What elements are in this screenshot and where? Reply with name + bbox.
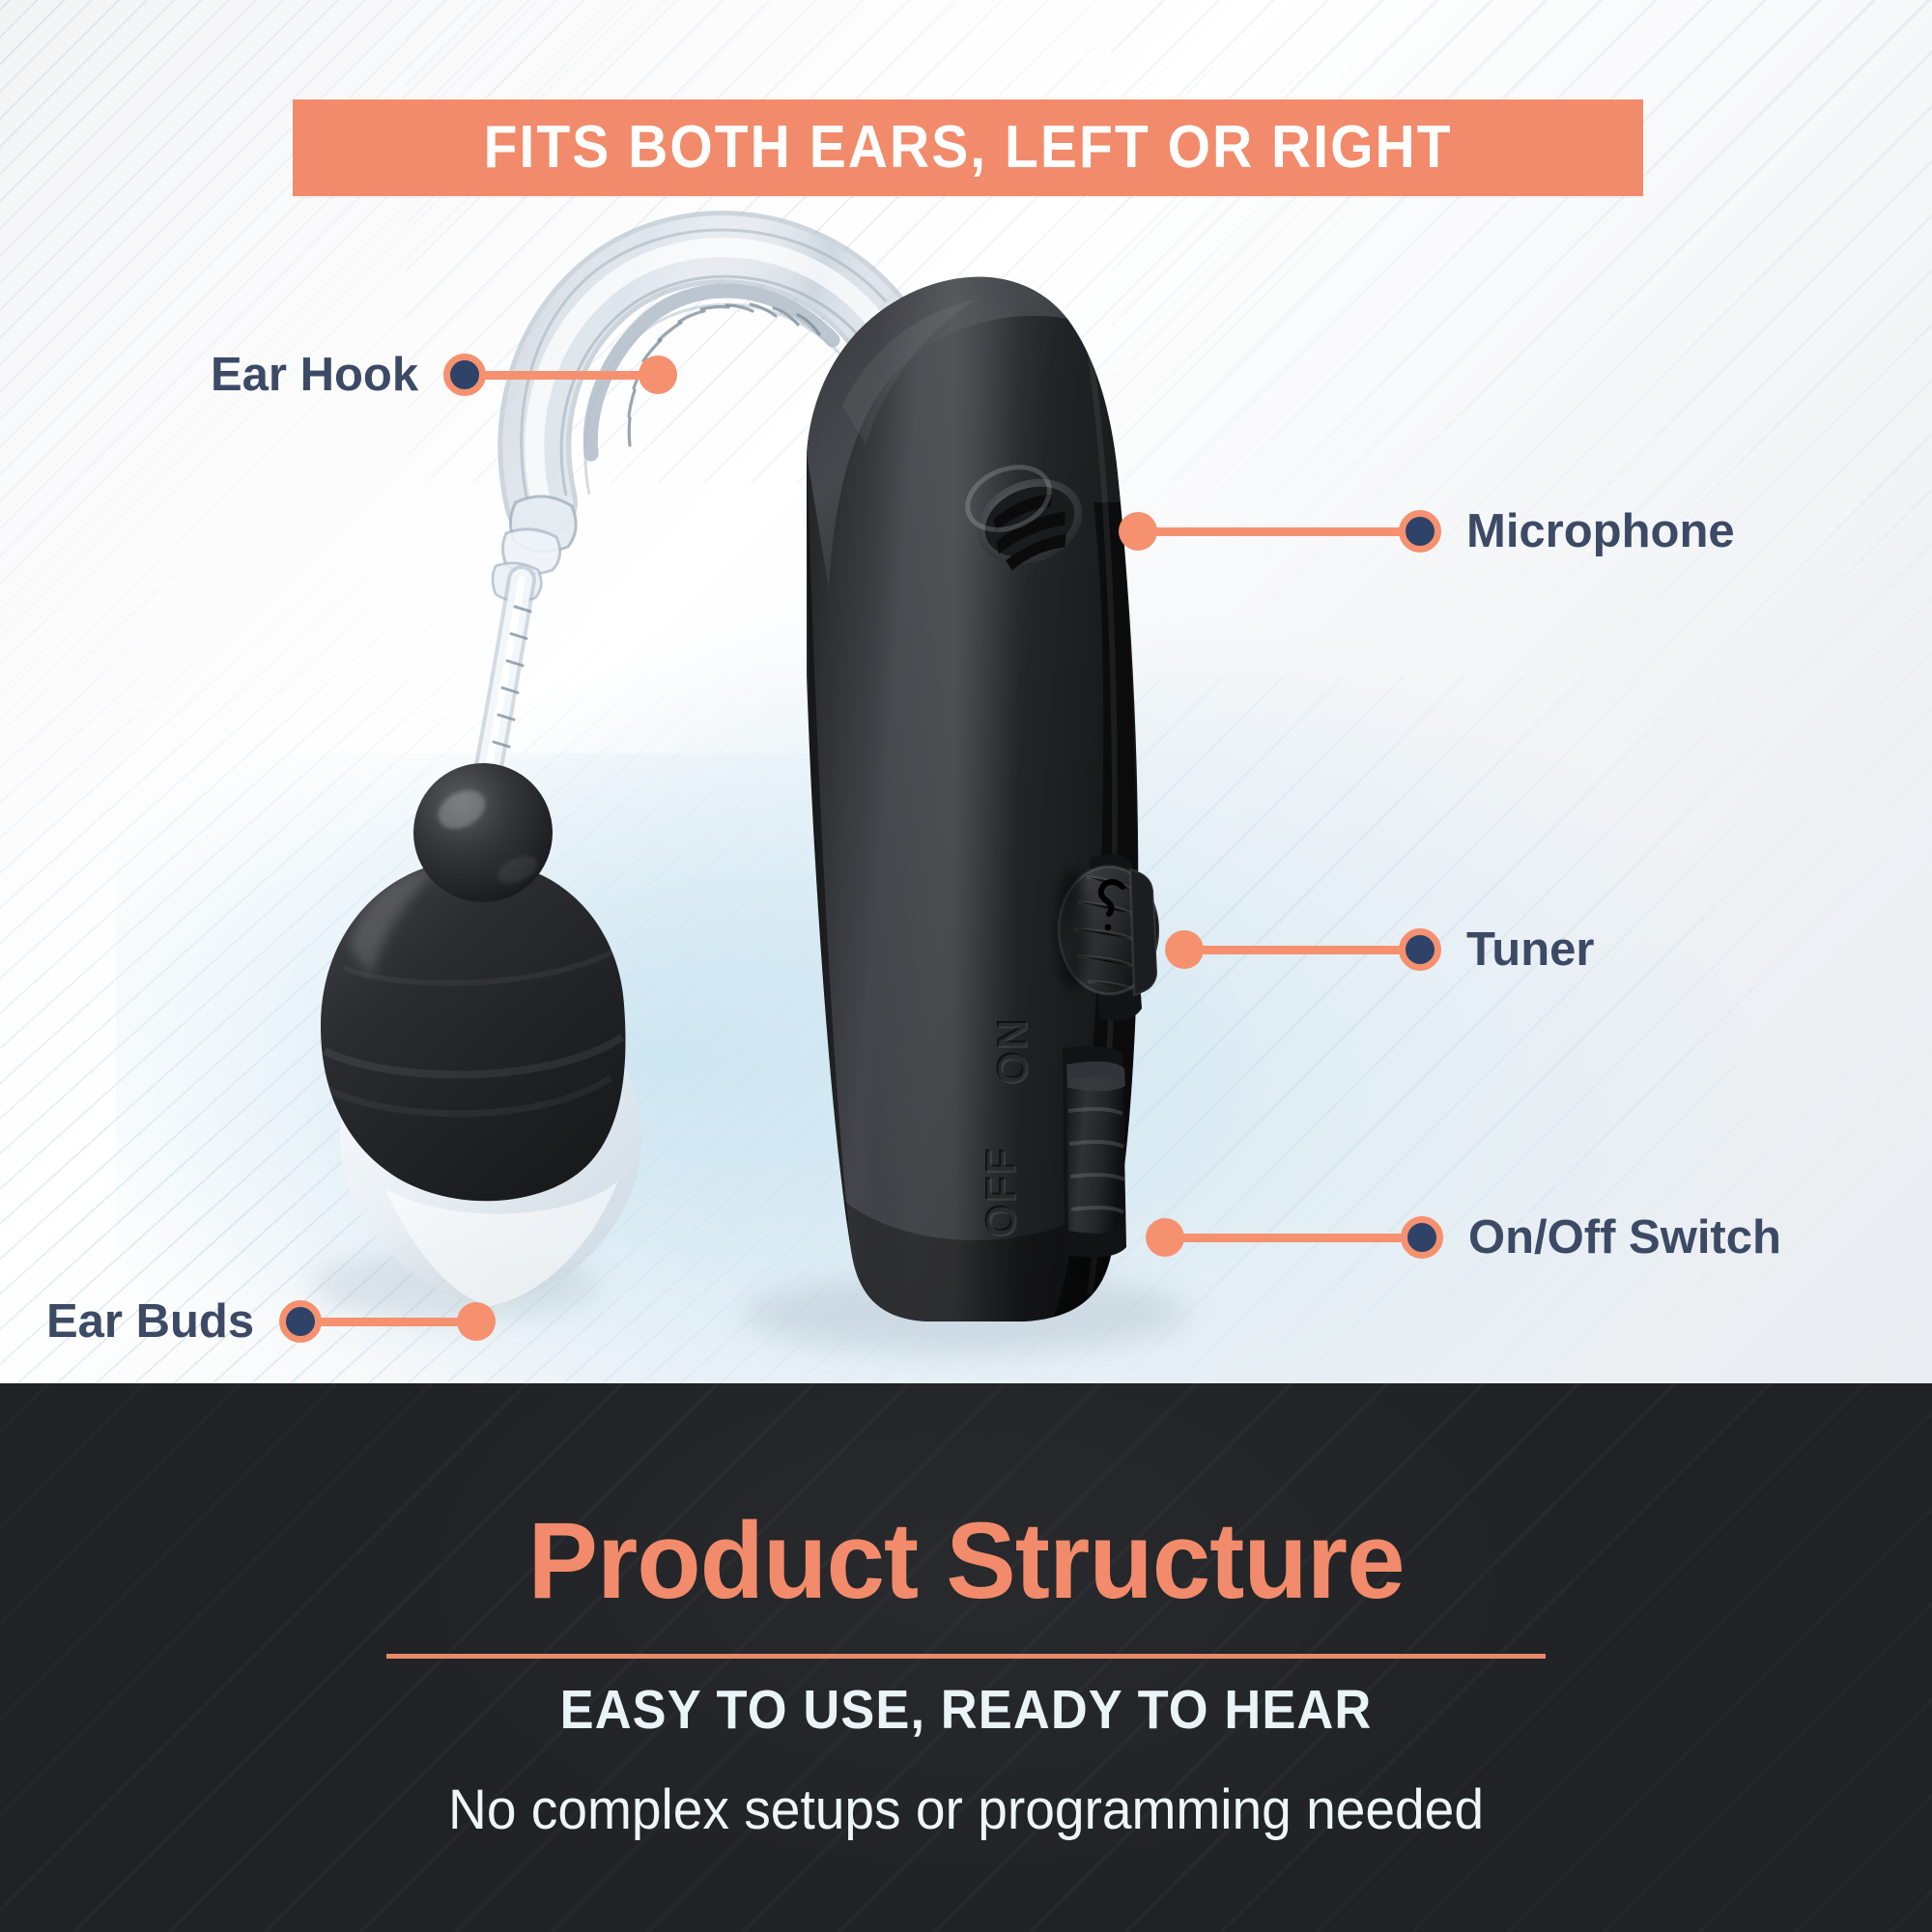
callout-node-dot-on-off-switch bbox=[1401, 1216, 1443, 1259]
callout-tuner: Tuner bbox=[1165, 927, 1594, 972]
callout-ear-buds: Ear Buds bbox=[46, 1299, 496, 1344]
callout-on-off-switch: On/Off Switch bbox=[1146, 1215, 1781, 1260]
ear-hook-part bbox=[442, 230, 886, 995]
on-off-switch: ON OFF ON OFF bbox=[977, 1016, 1126, 1258]
top-banner-text: FITS BOTH EARS, LEFT OR RIGHT bbox=[483, 118, 1452, 178]
callout-connector-line-microphone bbox=[1151, 527, 1405, 536]
svg-text:OFF: OFF bbox=[979, 1148, 1026, 1238]
callout-label-ear-hook: Ear Hook bbox=[211, 352, 418, 399]
callout-label-microphone: Microphone bbox=[1466, 508, 1735, 555]
microphone-port bbox=[958, 456, 1095, 580]
svg-text:ON: ON bbox=[990, 1018, 1037, 1086]
background-diagonal-stripes-bottomleft bbox=[0, 541, 1082, 1383]
callout-connector-line-ear-hook bbox=[480, 371, 644, 380]
product-structure-title: Product Structure bbox=[29, 1507, 1903, 1615]
callout-node-dot-microphone bbox=[1399, 510, 1441, 553]
callout-node-dot-tuner bbox=[1399, 928, 1441, 971]
callout-connector-line-tuner bbox=[1198, 946, 1405, 954]
top-banner: FITS BOTH EARS, LEFT OR RIGHT bbox=[293, 99, 1643, 196]
callout-label-on-off-switch: On/Off Switch bbox=[1468, 1214, 1781, 1262]
footer-tagline: EASY TO USE, READY TO HEAR bbox=[77, 1683, 1855, 1738]
svg-text:OFF: OFF bbox=[977, 1146, 1024, 1236]
hearing-aid-illustration: ON OFF ON OFF bbox=[0, 0, 1932, 1383]
title-divider-rule bbox=[386, 1654, 1546, 1659]
background-diagonal-stripes-topcenter bbox=[406, 0, 1468, 483]
callout-label-ear-buds: Ear Buds bbox=[46, 1298, 254, 1346]
callout-microphone: Microphone bbox=[1119, 509, 1735, 554]
background-diagonal-stripes-bottomright bbox=[1014, 676, 1932, 1383]
callout-label-tuner: Tuner bbox=[1466, 926, 1594, 974]
background-blue-wash bbox=[116, 753, 1323, 1383]
footer-subtagline: No complex setups or programming needed bbox=[48, 1782, 1884, 1838]
product-diagram-section: ON OFF ON OFF Ear Hook Microphone Tuner bbox=[0, 0, 1932, 1383]
device-body: ON OFF ON OFF bbox=[807, 270, 1159, 1352]
ear-bud-part bbox=[321, 763, 641, 1306]
svg-text:ON: ON bbox=[988, 1016, 1036, 1084]
callout-ear-hook: Ear Hook bbox=[211, 353, 677, 397]
tuner-wheel bbox=[1057, 854, 1159, 1020]
callout-end-dot-ear-hook bbox=[639, 355, 677, 394]
callout-end-dot-ear-buds bbox=[457, 1302, 496, 1341]
callout-connector-line-ear-buds bbox=[316, 1318, 463, 1326]
hook-collar bbox=[493, 497, 576, 601]
callout-connector-line-on-off-switch bbox=[1179, 1234, 1406, 1242]
